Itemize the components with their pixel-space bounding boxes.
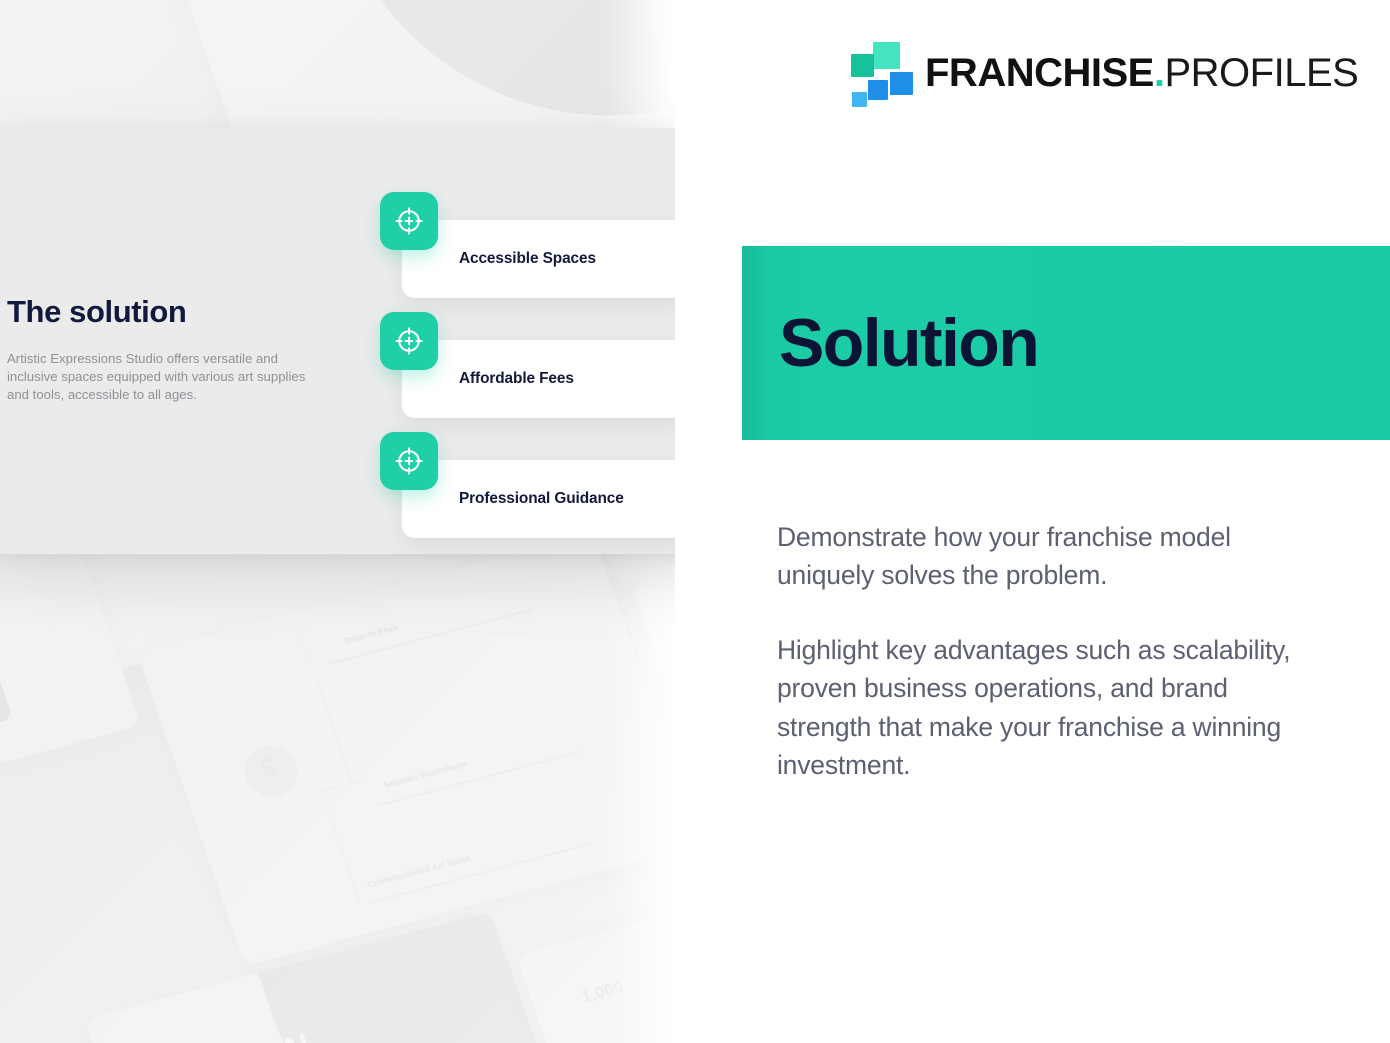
slide-template-preview-page: pitch deck THE PROBLEM Many individuals … [0,0,1390,1043]
section-title-banner: Solution [742,246,1390,440]
slide-preview-heading: The solution [7,294,186,330]
crosshair-target-icon [380,192,438,250]
brand-name-bold: FRANCHISE [925,51,1154,95]
feature-row[interactable]: Accessible Spaces [380,192,675,312]
feature-list: Accessible Spaces [380,192,675,552]
solution-slide-preview-card[interactable]: The solution Artistic Expressions Studio… [0,128,675,554]
page-title: Solution [779,309,1038,377]
deck-slide-title: TRACTION [131,1029,316,1043]
feature-card-label: Accessible Spaces [459,250,596,268]
deck-stat-value: 1,000 [579,977,627,1007]
left-preview-panel: pitch deck THE PROBLEM Many individuals … [0,0,675,1043]
feature-card[interactable]: Professional Guidance [402,460,675,538]
section-description: Demonstrate how your franchise model uni… [777,518,1317,785]
brand-wordmark: FRANCHISE.PROFILES [925,53,1358,93]
deck-label: Commissioned Art Sales [366,853,472,890]
feature-card[interactable]: Affordable Fees [402,340,675,418]
feature-row[interactable]: Affordable Fees [380,312,675,432]
feature-card-label: Professional Guidance [459,490,624,508]
right-content-panel: FRANCHISE.PROFILES Solution Demonstrate … [675,0,1390,1043]
crosshair-target-icon [380,312,438,370]
brand-dot: . [1154,51,1165,95]
crosshair-target-icon [380,432,438,490]
feature-card-label: Affordable Fees [459,370,574,388]
squares-logo-icon [851,42,908,104]
feature-row[interactable]: Professional Guidance [380,432,675,552]
franchise-profiles-logo[interactable]: FRANCHISE.PROFILES [851,42,1358,104]
description-paragraph-1: Demonstrate how your franchise model uni… [777,518,1317,595]
feature-card[interactable]: Accessible Spaces [402,220,675,298]
description-paragraph-2: Highlight key advantages such as scalabi… [777,631,1317,785]
slide-preview-body: Artistic Expressions Studio offers versa… [7,350,325,405]
deck-label: Drop-In Fees [343,622,400,646]
brand-name-light: PROFILES [1164,51,1358,95]
